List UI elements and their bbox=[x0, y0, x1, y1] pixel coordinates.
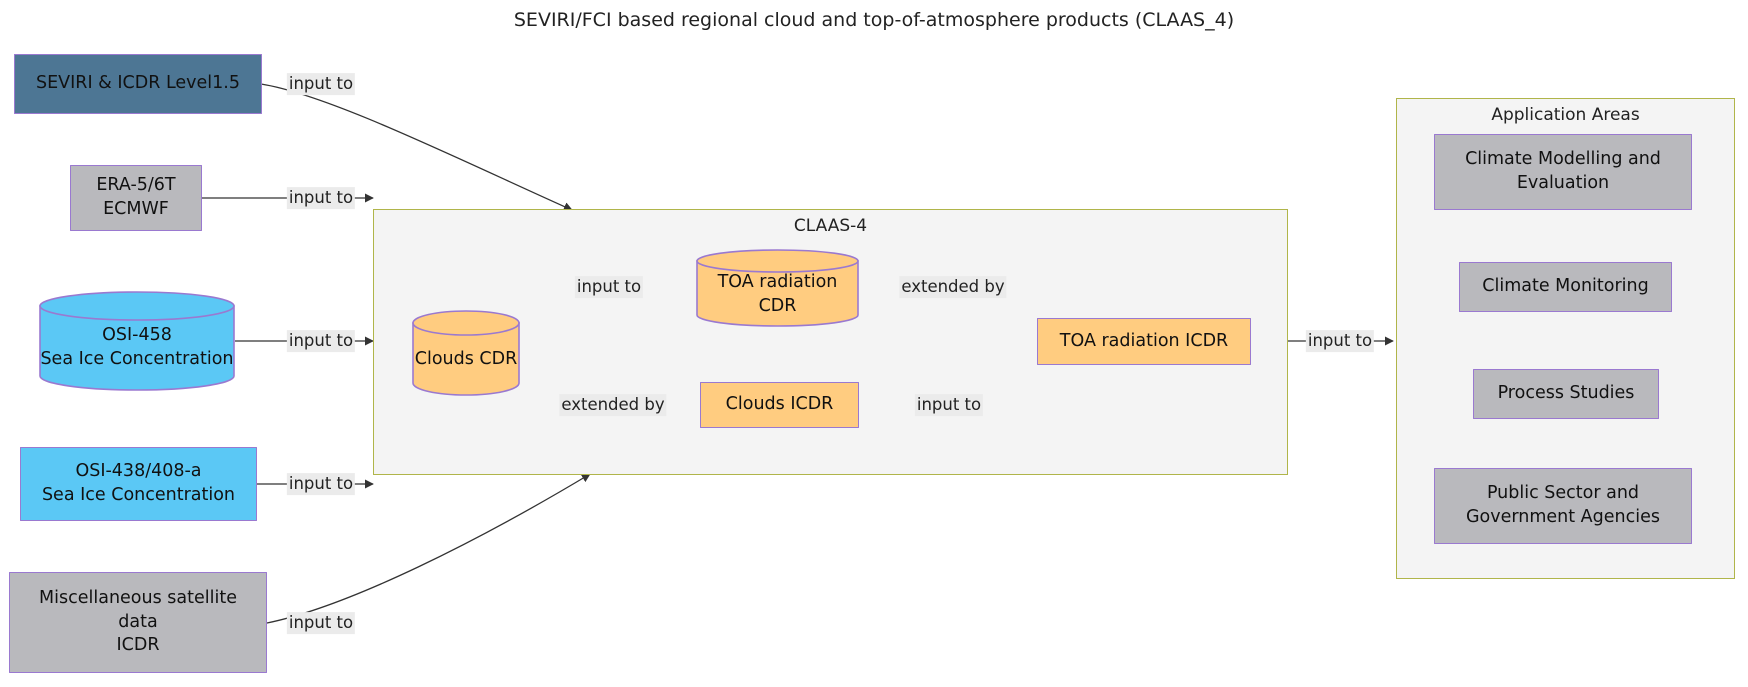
node-label: TOA radiation ICDR bbox=[1060, 330, 1228, 354]
node-label: OSI-458 Sea Ice Concentration bbox=[40, 324, 233, 371]
edge-label-cloudscdr-to-cloudsicdr: extended by bbox=[559, 394, 666, 416]
node-climate-modelling-and-evaluation[interactable]: Climate Modelling and Evaluation bbox=[1434, 134, 1692, 210]
node-clouds-cdr[interactable]: Clouds CDR bbox=[412, 310, 520, 396]
node-label: Miscellaneous satellite data ICDR bbox=[39, 587, 237, 658]
node-era-ecmwf[interactable]: ERA-5/6T ECMWF bbox=[70, 165, 202, 231]
edge-misc-to-claas bbox=[267, 474, 590, 623]
node-process-studies[interactable]: Process Studies bbox=[1473, 369, 1659, 419]
node-label: Process Studies bbox=[1498, 382, 1635, 406]
edge-label-osi458-to-claas: input to bbox=[287, 330, 355, 352]
edge-label-claas-to-apps: input to bbox=[1306, 330, 1374, 352]
node-label: Clouds ICDR bbox=[726, 393, 834, 417]
edge-label-era-to-claas: input to bbox=[287, 187, 355, 209]
node-label: Public Sector and Government Agencies bbox=[1466, 482, 1660, 529]
node-label: TOA radiation CDR bbox=[696, 271, 859, 318]
node-label: ERA-5/6T ECMWF bbox=[96, 174, 175, 221]
edge-label-misc-to-claas: input to bbox=[287, 612, 355, 634]
diagram-canvas: SEVIRI/FCI based regional cloud and top-… bbox=[0, 0, 1748, 687]
edge-label-seviri-to-claas: input to bbox=[287, 73, 355, 95]
application-areas-title: Application Areas bbox=[1397, 105, 1734, 125]
edge-label-osi438-to-claas: input to bbox=[287, 473, 355, 495]
node-toa-radiation-icdr[interactable]: TOA radiation ICDR bbox=[1037, 318, 1251, 365]
node-label: OSI-438/408-a Sea Ice Concentration bbox=[42, 460, 235, 507]
edge-label-toacdr-to-toaicdr: extended by bbox=[899, 276, 1006, 298]
node-label: SEVIRI & ICDR Level1.5 bbox=[36, 72, 240, 96]
edge-label-cloudsicdr-to-toaicdr: input to bbox=[915, 394, 983, 416]
node-miscellaneous-satellite-data-icdr[interactable]: Miscellaneous satellite data ICDR bbox=[9, 572, 267, 673]
node-osi-438-408a-sea-ice-concentration[interactable]: OSI-438/408-a Sea Ice Concentration bbox=[20, 447, 257, 521]
node-label: Clouds CDR bbox=[415, 348, 518, 372]
node-clouds-icdr[interactable]: Clouds ICDR bbox=[700, 382, 859, 428]
node-toa-radiation-cdr[interactable]: TOA radiation CDR bbox=[696, 249, 859, 327]
node-osi-458-sea-ice-concentration[interactable]: OSI-458 Sea Ice Concentration bbox=[39, 291, 235, 391]
node-climate-monitoring[interactable]: Climate Monitoring bbox=[1459, 262, 1672, 312]
page-title: SEVIRI/FCI based regional cloud and top-… bbox=[0, 9, 1748, 31]
node-public-sector-and-government-agencies[interactable]: Public Sector and Government Agencies bbox=[1434, 468, 1692, 544]
node-seviri-icdr-level15[interactable]: SEVIRI & ICDR Level1.5 bbox=[14, 54, 262, 114]
node-label: Climate Monitoring bbox=[1482, 275, 1649, 299]
claas4-title: CLAAS-4 bbox=[374, 216, 1287, 236]
node-label: Climate Modelling and Evaluation bbox=[1465, 148, 1661, 195]
edge-label-cloudscdr-to-toacdr: input to bbox=[575, 276, 643, 298]
